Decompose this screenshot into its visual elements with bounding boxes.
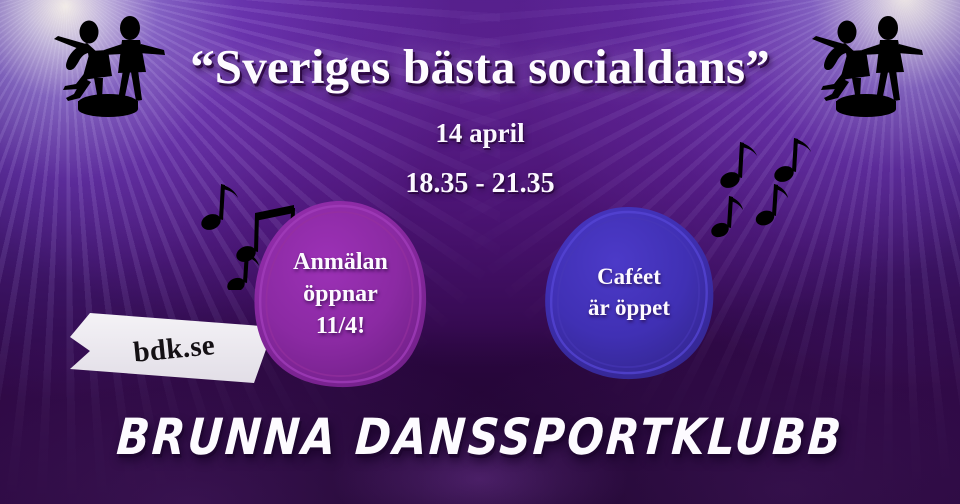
dance-event-poster: “Sveriges bästa socialdans” 14 april 18.… — [0, 0, 960, 504]
cafe-badge-text: Caféet är öppet — [588, 262, 670, 324]
cafe-badge: Caféet är öppet — [538, 204, 720, 382]
club-name: BRUNNA DANSSPORTKLUBB — [0, 409, 960, 467]
registration-line-1: Anmälan — [293, 246, 388, 278]
cafe-line-2: är öppet — [588, 293, 670, 324]
event-time: 18.35 - 21.35 — [0, 168, 960, 200]
registration-line-2: öppnar — [293, 278, 388, 310]
registration-line-3: 11/4! — [293, 310, 388, 342]
event-date: 14 april — [0, 118, 960, 149]
cafe-line-1: Caféet — [588, 262, 670, 293]
poster-headline: “Sveriges bästa socialdans” — [0, 38, 960, 95]
registration-badge: Anmälan öppnar 11/4! — [248, 198, 433, 390]
registration-badge-text: Anmälan öppnar 11/4! — [293, 246, 388, 342]
